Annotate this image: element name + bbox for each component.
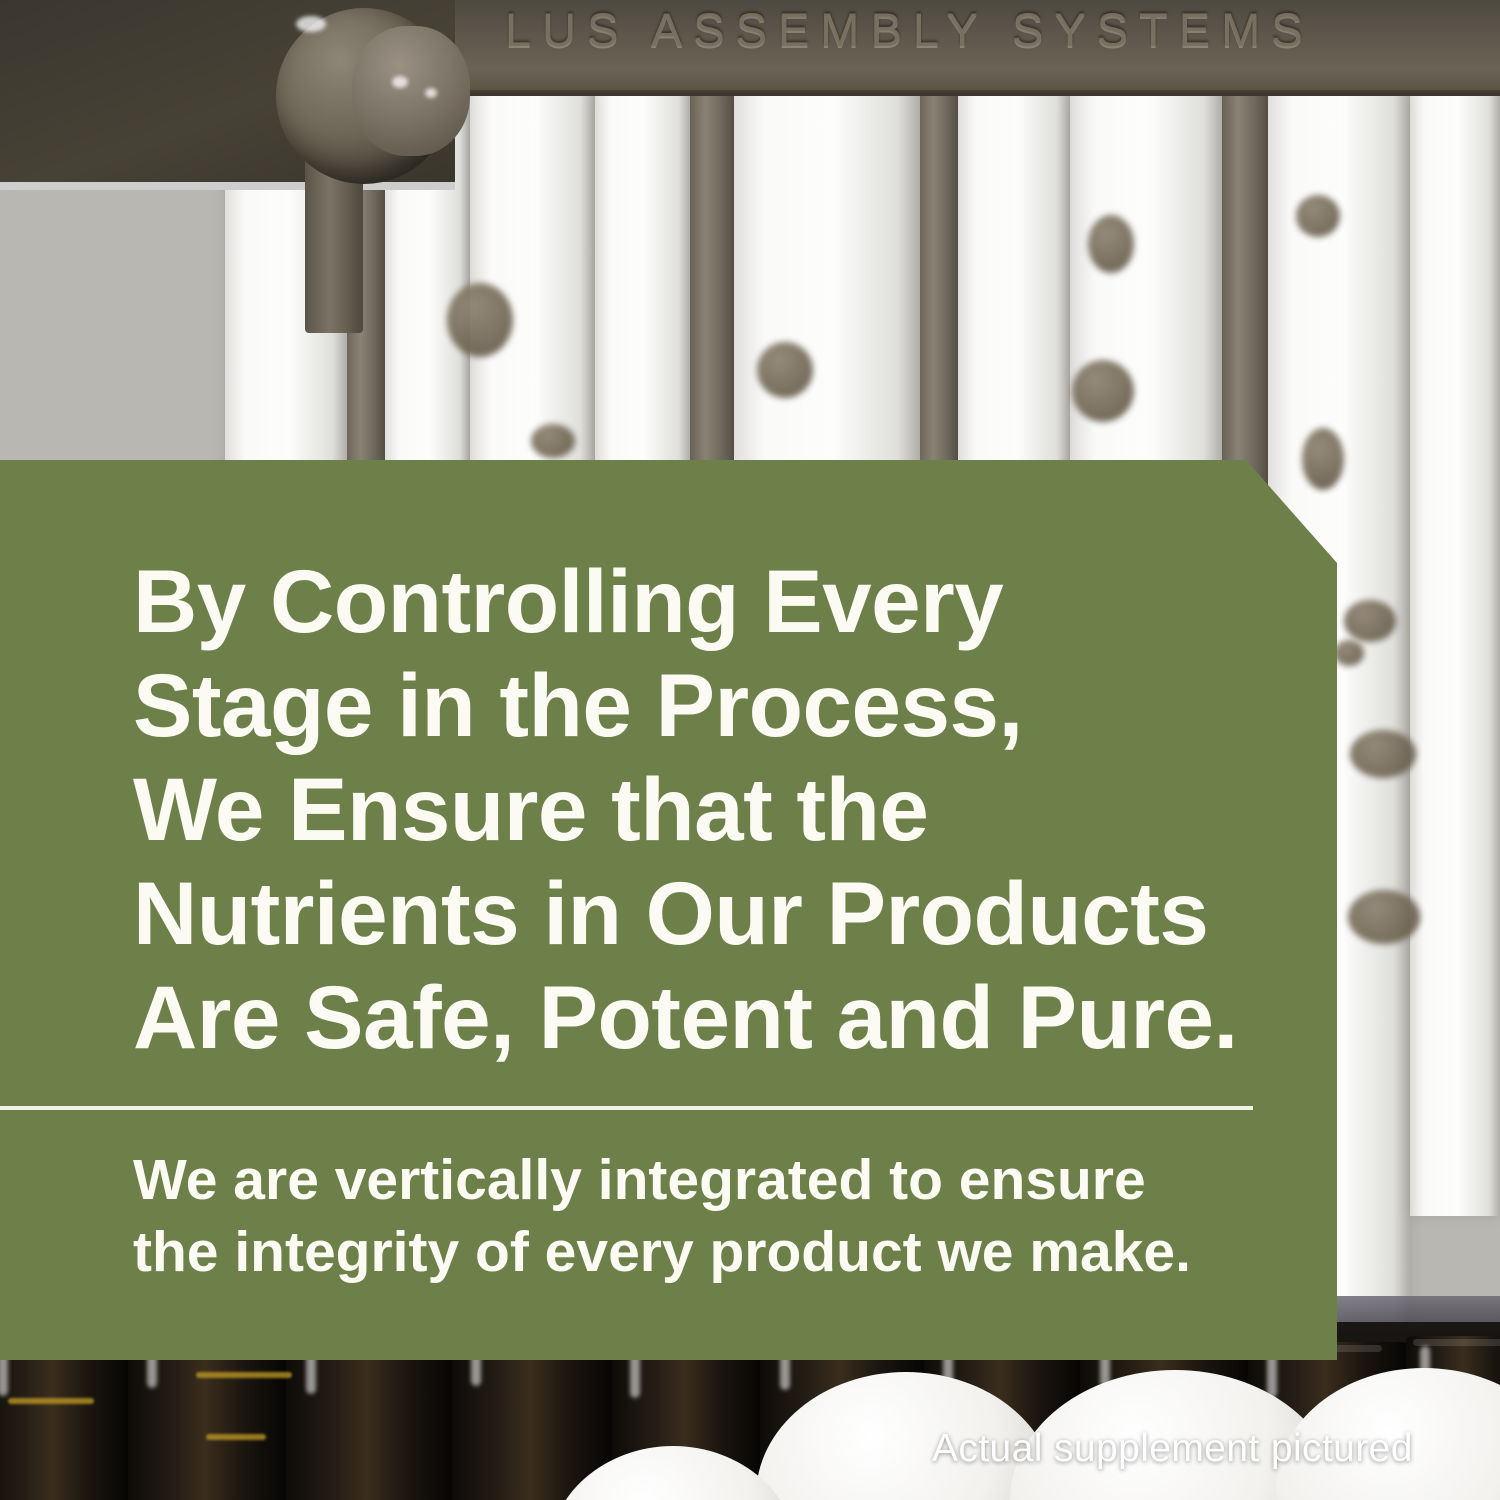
feed-chute <box>1410 96 1500 1216</box>
bottle-label-stripe <box>206 1434 266 1440</box>
page-title: By Controlling Every Stage in the Proces… <box>133 549 1253 1069</box>
conveyor-edge <box>1330 1296 1500 1322</box>
supplement-pill <box>1302 428 1344 490</box>
supplement-pill <box>757 342 813 398</box>
amber-bottle <box>286 1338 454 1500</box>
divider-rule <box>0 1106 1253 1110</box>
supplement-pill <box>1344 600 1396 642</box>
supplement-pill <box>1296 195 1340 237</box>
roller-highlight <box>425 88 437 98</box>
roller-knob-cap <box>352 26 470 156</box>
promo-banner: LUS ASSEMBLY SYSTEMS By Controlling Ever… <box>0 0 1500 1500</box>
supplement-pill <box>1348 890 1420 944</box>
roller-highlight <box>296 16 326 32</box>
supplement-pill <box>1350 730 1416 778</box>
supplement-pill <box>531 424 575 458</box>
machine-emboss-text: LUS ASSEMBLY SYSTEMS <box>505 2 1314 57</box>
bottle-label-stripe <box>196 1372 292 1378</box>
supplement-pill <box>447 283 513 357</box>
photo-caption: Actual supplement pictured <box>932 1427 1413 1471</box>
bottle-label-stripe <box>8 1398 94 1404</box>
supplement-pill <box>1072 360 1134 422</box>
roller-highlight <box>392 76 408 88</box>
subheadline: We are vertically integrated to ensure t… <box>133 1144 1283 1288</box>
supplement-pill <box>1088 215 1134 273</box>
amber-bottle <box>0 1340 130 1500</box>
supplement-pill <box>1334 640 1364 666</box>
